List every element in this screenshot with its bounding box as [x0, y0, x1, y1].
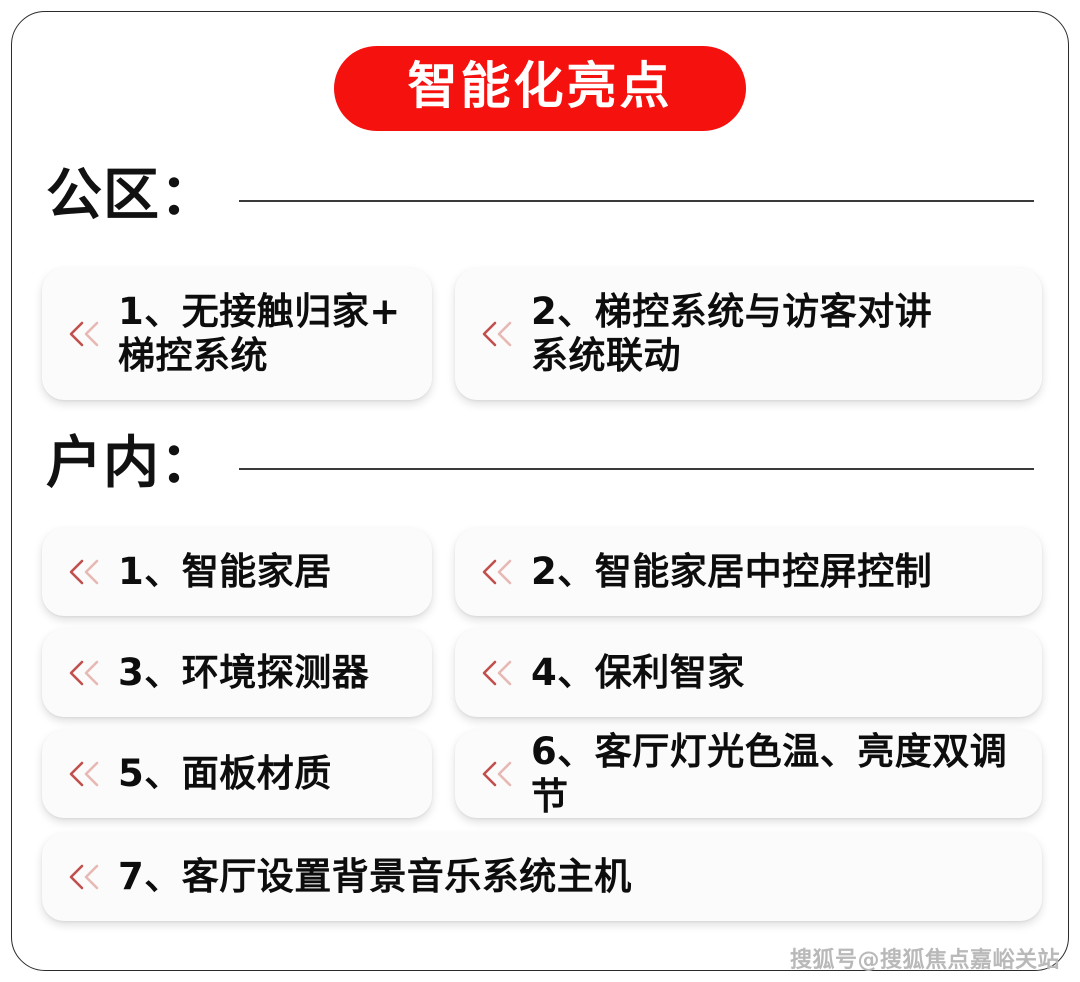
double-chevron-left-icon [66, 757, 106, 791]
card-label: 7、客厅设置背景音乐系统主机 [118, 854, 632, 899]
section-divider-hunei [239, 468, 1034, 470]
card-label: 4、保利智家 [531, 650, 745, 695]
double-chevron-left-icon [66, 317, 106, 351]
card-hunei-7[interactable]: 7、客厅设置背景音乐系统主机 [42, 833, 1042, 921]
card-hunei-4[interactable]: 4、保利智家 [455, 629, 1042, 717]
page-title: 智能化亮点 [408, 60, 673, 113]
double-chevron-left-icon [479, 555, 519, 589]
card-hunei-5[interactable]: 5、面板材质 [42, 730, 432, 818]
card-label: 1、无接触归家+ 梯控系统 [118, 290, 401, 377]
double-chevron-left-icon [66, 860, 106, 894]
double-chevron-left-icon [66, 555, 106, 589]
double-chevron-left-icon [479, 317, 519, 351]
infographic-page: 智能化亮点 公区： 1、无接触归家+ 梯控系统 2、梯控系统与访客对讲 系统联动… [0, 0, 1080, 982]
card-label: 5、面板材质 [118, 751, 332, 796]
section-heading-gongqu: 公区： [46, 168, 1034, 224]
double-chevron-left-icon [66, 656, 106, 690]
card-label: 2、梯控系统与访客对讲 系统联动 [531, 290, 932, 377]
double-chevron-left-icon [479, 656, 519, 690]
card-hunei-2[interactable]: 2、智能家居中控屏控制 [455, 528, 1042, 616]
section-heading-hunei: 户内： [46, 436, 1034, 492]
card-label: 1、智能家居 [118, 549, 332, 594]
card-label: 2、智能家居中控屏控制 [531, 549, 932, 594]
card-label: 6、客厅灯光色温、亮度双调节 [531, 729, 1024, 819]
title-pill: 智能化亮点 [334, 46, 746, 131]
card-hunei-3[interactable]: 3、环境探测器 [42, 629, 432, 717]
double-chevron-left-icon [479, 757, 519, 791]
card-gongqu-2[interactable]: 2、梯控系统与访客对讲 系统联动 [455, 268, 1042, 400]
section-label-gongqu: 公区： [46, 168, 217, 224]
card-gongqu-1[interactable]: 1、无接触归家+ 梯控系统 [42, 268, 432, 400]
section-divider-gongqu [239, 200, 1034, 202]
title-banner: 智能化亮点 [0, 46, 1080, 131]
card-label: 3、环境探测器 [118, 650, 369, 695]
sohu-watermark: 搜狐号@搜狐焦点嘉峪关站 [790, 942, 1060, 974]
section-label-hunei: 户内： [46, 436, 217, 492]
card-hunei-1[interactable]: 1、智能家居 [42, 528, 432, 616]
card-hunei-6[interactable]: 6、客厅灯光色温、亮度双调节 [455, 730, 1042, 818]
